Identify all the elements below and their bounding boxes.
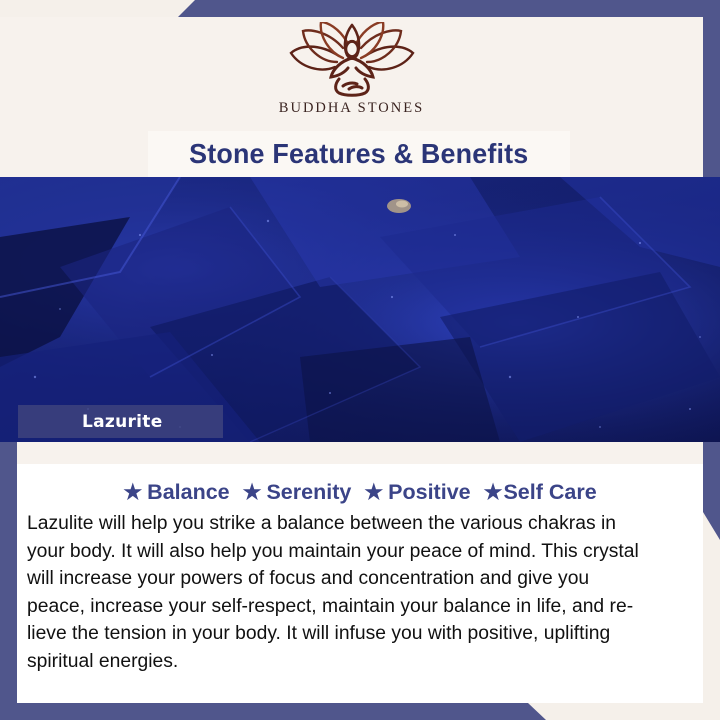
star-icon: ★: [243, 482, 262, 503]
benefits-row: ★ Balance ★ Serenity ★ Positive ★ Self C…: [17, 476, 703, 508]
description-line: spiritual energies.: [27, 648, 681, 676]
benefit-item-positive: ★ Positive: [364, 480, 470, 505]
stone-photo: [0, 177, 720, 442]
description-line: lieve the tension in your body. It will …: [27, 620, 681, 648]
lotus-meditation-icon: [277, 22, 427, 98]
star-icon: ★: [484, 482, 503, 503]
star-icon: ★: [123, 482, 142, 503]
benefit-label: Serenity: [266, 480, 351, 505]
brand-logo: BUDDHA STONES: [0, 22, 703, 117]
brand-name: BUDDHA STONES: [279, 100, 424, 117]
top-accent-band: [0, 0, 720, 17]
benefit-item-serenity: ★ Serenity: [243, 480, 352, 505]
description-line: peace, increase your self-respect, maint…: [27, 593, 681, 621]
stone-name-tag: Lazurite: [18, 405, 223, 438]
stone-photo-graphic: [0, 177, 720, 442]
description-text: Lazulite will help you strike a balance …: [27, 510, 681, 675]
benefit-label: Positive: [388, 480, 470, 505]
description-line: will increase your powers of focus and c…: [27, 565, 681, 593]
panel-top-strip: [17, 442, 703, 464]
benefit-label: Balance: [147, 480, 229, 505]
description-line: Lazulite will help you strike a balance …: [27, 510, 681, 538]
stone-info-poster: BUDDHA STONES Stone Features & Benefits: [0, 0, 720, 720]
benefit-item-balance: ★ Balance: [123, 480, 229, 505]
benefit-item-self-care: ★ Self Care: [484, 480, 597, 505]
title-banner: Stone Features & Benefits: [148, 131, 570, 177]
star-icon: ★: [364, 482, 383, 503]
stone-name: Lazurite: [82, 412, 163, 432]
page-title: Stone Features & Benefits: [189, 138, 528, 170]
benefit-label: Self Care: [503, 480, 596, 505]
description-line: your body. It will also help you maintai…: [27, 538, 681, 566]
bottom-accent-band: [0, 703, 720, 720]
